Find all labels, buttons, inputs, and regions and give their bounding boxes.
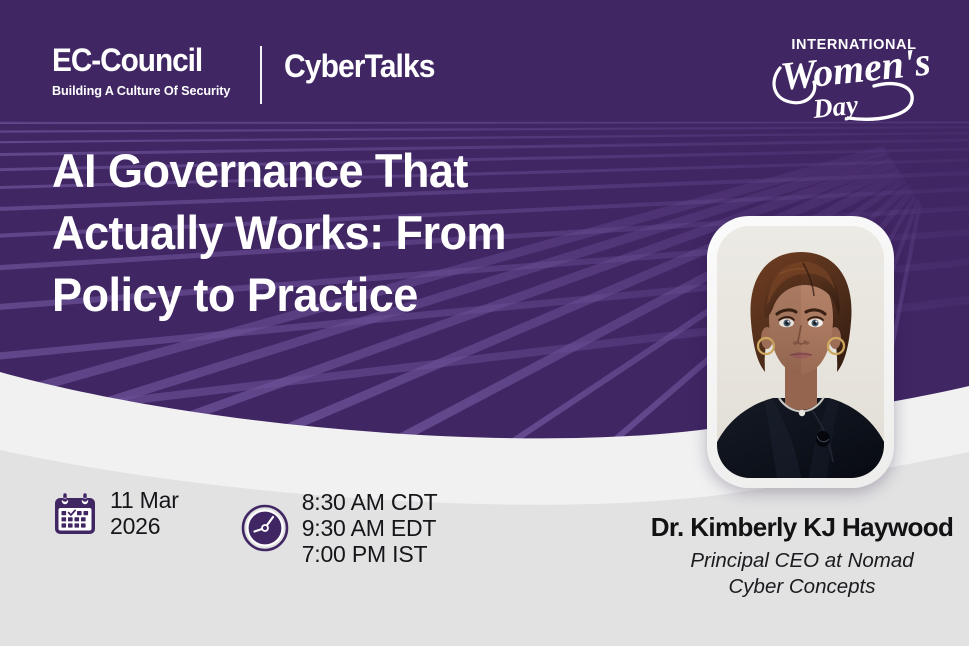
speaker-portrait-illustration (717, 226, 884, 478)
time-line-1: 8:30 AM CDT (302, 490, 438, 516)
international-womens-day-logo: INTERNATIONAL Women's Day (762, 28, 927, 126)
time-line-3: 7:00 PM IST (302, 542, 438, 568)
ec-council-tagline: Building A Culture Of Security (52, 83, 230, 98)
ec-council-logo: EC-Council Building A Culture Of Securit… (52, 44, 238, 98)
header-divider (260, 46, 262, 104)
title-line-2: Actually Works: From (52, 202, 551, 264)
speaker-role-line-2: Cyber Concepts (634, 574, 969, 600)
time-text: 8:30 AM CDT 9:30 AM EDT 7:00 PM IST (302, 488, 438, 567)
date-line-1: 11 Mar (110, 488, 179, 514)
calendar-icon (52, 491, 98, 537)
page-title: AI Governance That Actually Works: From … (52, 140, 551, 326)
speaker-role-line-1: Principal CEO at Nomad (634, 548, 969, 574)
speaker-role: Principal CEO at Nomad Cyber Concepts (634, 548, 969, 600)
title-line-3: Policy to Practice (52, 264, 551, 326)
cybertalks-wordmark: CyberTalks (284, 50, 435, 82)
iwd-day-script: Day (810, 89, 860, 124)
date-item: 11 Mar 2026 (52, 488, 179, 540)
speaker-name: Dr. Kimberly KJ Haywood (634, 512, 969, 543)
speaker-photo-frame (707, 216, 894, 488)
header-logos: EC-Council Building A Culture Of Securit… (52, 44, 444, 104)
ec-council-name: EC-Council (52, 44, 225, 76)
time-item: 8:30 AM CDT 9:30 AM EDT 7:00 PM IST (241, 488, 438, 567)
schedule-info: 11 Mar 2026 8:30 AM CDT 9:30 AM EDT 7:00… (52, 488, 438, 567)
clock-icon (241, 504, 289, 552)
time-line-2: 9:30 AM EDT (302, 516, 438, 542)
promo-banner: EC-Council Building A Culture Of Securit… (0, 0, 969, 646)
speaker-photo (717, 226, 884, 478)
title-line-1: AI Governance That (52, 140, 551, 202)
date-text: 11 Mar 2026 (110, 488, 179, 540)
date-line-2: 2026 (110, 514, 179, 540)
